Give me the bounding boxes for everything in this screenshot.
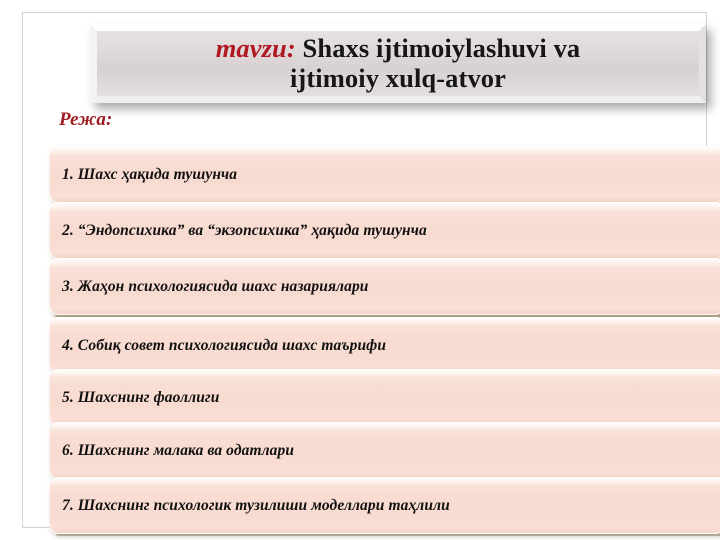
list-item[interactable]: 3. Жаҳон психологиясида шахс назариялари bbox=[49, 258, 720, 315]
list-item-label: 5. Шахснинг фаоллиги bbox=[49, 389, 219, 407]
plan-list: 1. Шахс ҳақида тушунча 2. “Эндопсихика” … bbox=[46, 143, 720, 537]
page-title: mavzu: Shaxs ijtimoiylashuvi va ijtimoiy… bbox=[208, 34, 589, 94]
list-item[interactable]: 6. Шахснинг малака ва одатлари bbox=[49, 422, 720, 479]
slide-title-banner: mavzu: Shaxs ijtimoiylashuvi va ijtimoiy… bbox=[90, 24, 706, 103]
list-item-label: 2. “Эндопсихика” ва “экзопсихика” ҳақида… bbox=[49, 222, 427, 240]
list-item-label: 1. Шахс ҳақида тушунча bbox=[49, 166, 237, 184]
list-item[interactable]: 1. Шахс ҳақида тушунча bbox=[49, 146, 720, 203]
plan-label: Режа: bbox=[59, 109, 113, 131]
slide-frame: mavzu: Shaxs ijtimoiylashuvi va ijtimoiy… bbox=[22, 12, 707, 528]
list-item-label: 3. Жаҳон психологиясида шахс назариялари bbox=[49, 278, 369, 296]
list-item[interactable]: 4. Собиқ совет психологиясида шахс таъри… bbox=[49, 317, 720, 374]
list-item[interactable]: 2. “Эндопсихика” ва “экзопсихика” ҳақида… bbox=[49, 202, 720, 259]
title-line-1: Shaxs ijtimoiylashuvi va bbox=[296, 33, 581, 63]
list-item-label: 7. Шахснинг психологик тузилиши моделлар… bbox=[49, 497, 450, 515]
title-line-2: ijtimoiy xulq-atvor bbox=[290, 63, 506, 93]
list-item[interactable]: 7. Шахснинг психологик тузилиши моделлар… bbox=[49, 477, 720, 534]
list-item[interactable]: 5. Шахснинг фаоллиги bbox=[49, 369, 720, 426]
list-item-label: 6. Шахснинг малака ва одатлари bbox=[49, 442, 294, 460]
title-keyword: mavzu: bbox=[216, 33, 296, 63]
list-item-label: 4. Собиқ совет психологиясида шахс таъри… bbox=[49, 337, 386, 355]
